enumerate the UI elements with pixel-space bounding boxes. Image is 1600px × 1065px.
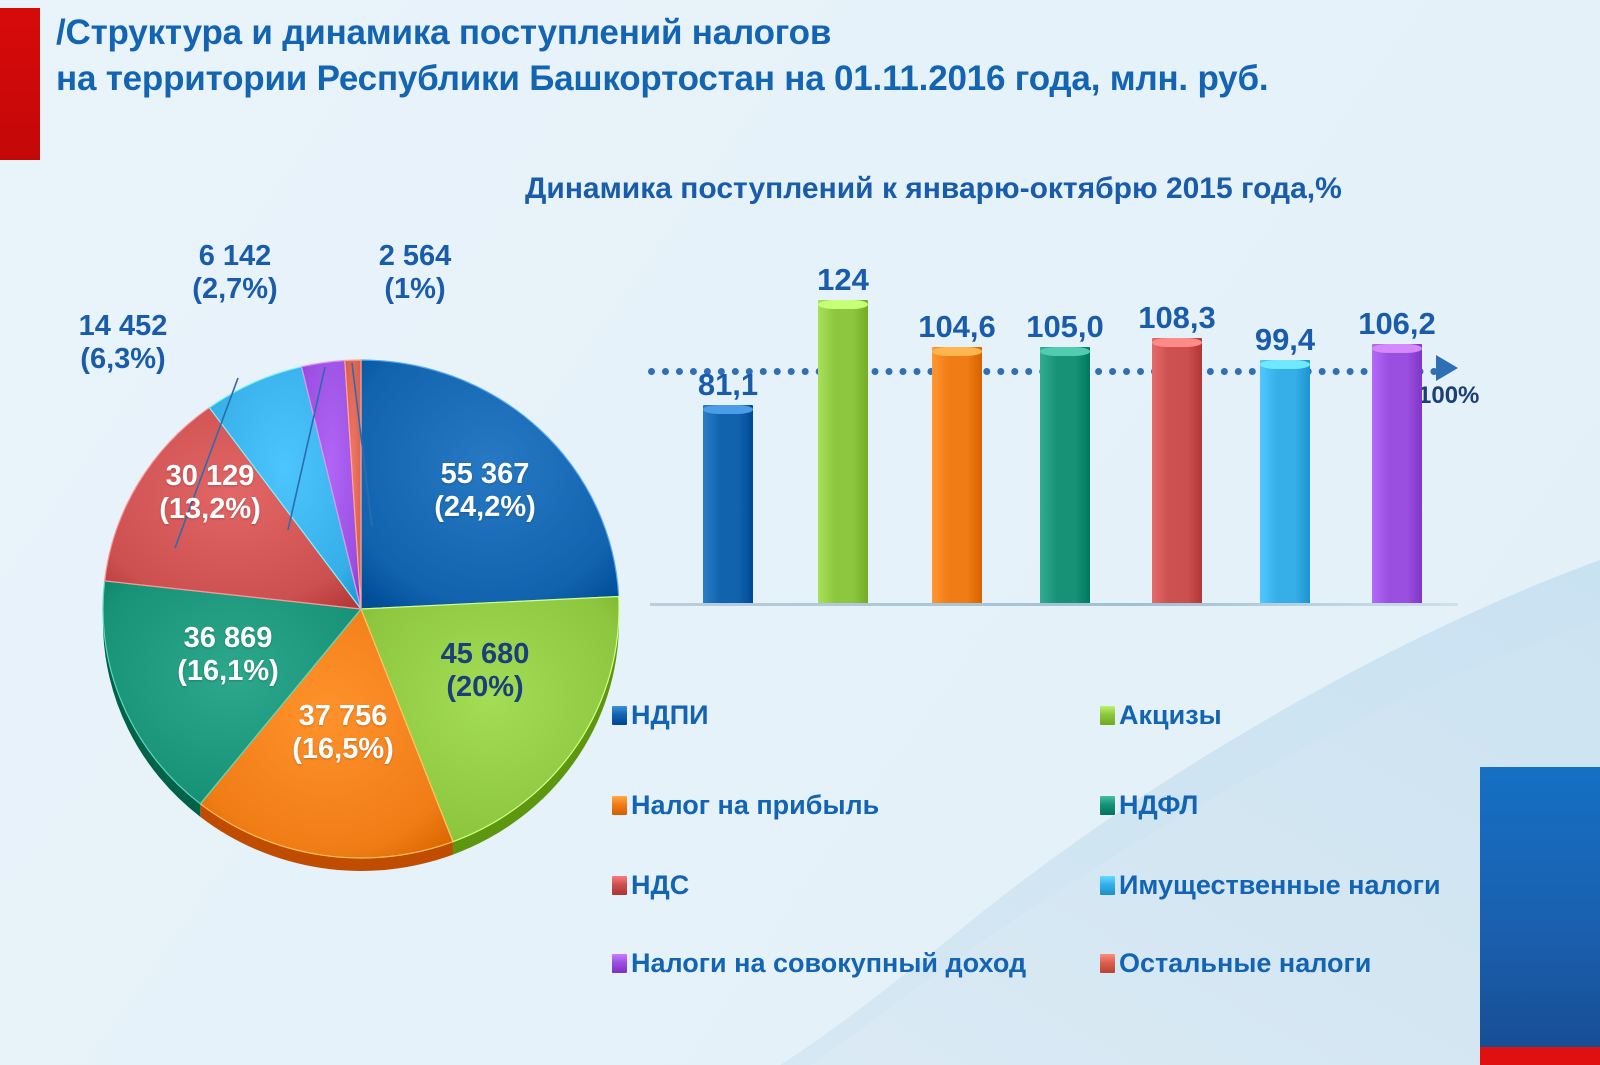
bar-top-cap xyxy=(818,300,868,309)
legend-swatch-icon xyxy=(612,876,627,895)
bar-rect xyxy=(703,405,753,603)
title-accent-bar xyxy=(0,8,40,160)
legend-item-label: НДФЛ xyxy=(1119,790,1198,821)
legend-item-label: Акцизы xyxy=(1119,700,1222,731)
bar-rect xyxy=(1372,344,1422,603)
legend-item[interactable]: НДФЛ xyxy=(1100,790,1198,821)
legend-item[interactable]: Акцизы xyxy=(1100,700,1222,731)
bar-rect xyxy=(818,300,868,603)
bar-column[interactable] xyxy=(1372,344,1422,603)
pie-slice-label: 45 680 (20%) xyxy=(400,638,570,705)
bar-column[interactable] xyxy=(932,347,982,603)
bar-top-cap xyxy=(1372,344,1422,353)
bar-top-cap xyxy=(1040,347,1090,356)
legend-swatch-icon xyxy=(1100,796,1115,815)
legend-item-label: Налог на прибыль xyxy=(631,790,879,821)
bar-value-label: 124 xyxy=(788,262,898,298)
legend-item[interactable]: НДПИ xyxy=(612,700,709,731)
legend-item[interactable]: НДС xyxy=(612,870,689,901)
bar-rect xyxy=(932,347,982,603)
legend-item[interactable]: Имущественные налоги xyxy=(1100,870,1441,901)
pie-slice-label: 14 452 (6,3%) xyxy=(28,310,218,377)
legend-swatch-icon xyxy=(612,706,627,725)
chart-legend: НДПИАкцизыНалог на прибыльНДФЛНДСИмущест… xyxy=(612,700,1452,980)
bar-value-label: 104,6 xyxy=(902,309,1012,345)
slide-root: /Структура и динамика поступлений налого… xyxy=(0,0,1600,1065)
bar-top-cap xyxy=(932,347,982,356)
bar-rect xyxy=(1040,347,1090,604)
legend-item-label: Налоги на совокупный доход xyxy=(631,948,1026,979)
legend-swatch-icon xyxy=(1100,954,1115,973)
bar-value-label: 81,1 xyxy=(673,367,783,403)
bar-column[interactable] xyxy=(1260,360,1310,603)
bar-column[interactable] xyxy=(1152,338,1202,603)
legend-item[interactable]: Налог на прибыль xyxy=(612,790,879,821)
bar-rect xyxy=(1152,338,1202,603)
pie-chart: 55 367 (24,2%)45 680 (20%)37 756 (16,5%)… xyxy=(0,230,660,910)
bar-rect xyxy=(1260,360,1310,603)
bar-column[interactable] xyxy=(1040,347,1090,604)
reference-line-label: 100% xyxy=(1418,382,1479,410)
legend-swatch-icon xyxy=(1100,706,1115,725)
corner-decoration-stripe xyxy=(1480,1047,1600,1065)
bar-value-label: 106,2 xyxy=(1342,306,1452,342)
pie-slice-label: 30 129 (13,2%) xyxy=(120,460,300,527)
bar-column[interactable] xyxy=(703,405,753,603)
pie-slice-label: 55 367 (24,2%) xyxy=(400,458,570,525)
legend-item-label: НДПИ xyxy=(631,700,709,731)
bar-chart-baseline xyxy=(650,603,1458,606)
bar-value-label: 105,0 xyxy=(1010,309,1120,345)
pie-slice-label: 37 756 (16,5%) xyxy=(258,700,428,767)
bar-top-cap xyxy=(1260,360,1310,369)
bar-chart-title: Динамика поступлений к январю-октябрю 20… xyxy=(525,172,1585,206)
legend-item-label: НДС xyxy=(631,870,689,901)
reference-line-arrow-icon xyxy=(1436,355,1458,381)
bar-value-label: 108,3 xyxy=(1122,300,1232,336)
legend-item[interactable]: Остальные налоги xyxy=(1100,948,1371,979)
bar-chart: 100% 81,1124104,6105,0108,399,4106,2 xyxy=(640,250,1470,615)
legend-item-label: Имущественные налоги xyxy=(1119,870,1441,901)
legend-item-label: Остальные налоги xyxy=(1119,948,1371,979)
legend-swatch-icon xyxy=(612,954,627,973)
bar-top-cap xyxy=(703,405,753,414)
pie-slice-label: 36 869 (16,1%) xyxy=(138,622,318,689)
bar-top-cap xyxy=(1152,338,1202,347)
legend-swatch-icon xyxy=(612,796,627,815)
corner-decoration-block xyxy=(1480,767,1600,1047)
bar-value-label: 99,4 xyxy=(1230,322,1340,358)
page-title: /Структура и динамика поступлений налого… xyxy=(56,10,1456,102)
bar-column[interactable] xyxy=(818,300,868,603)
pie-slice-label: 2 564 (1%) xyxy=(330,240,500,307)
legend-swatch-icon xyxy=(1100,876,1115,895)
pie-slice-label: 6 142 (2,7%) xyxy=(140,240,330,307)
legend-item[interactable]: Налоги на совокупный доход xyxy=(612,948,1026,979)
